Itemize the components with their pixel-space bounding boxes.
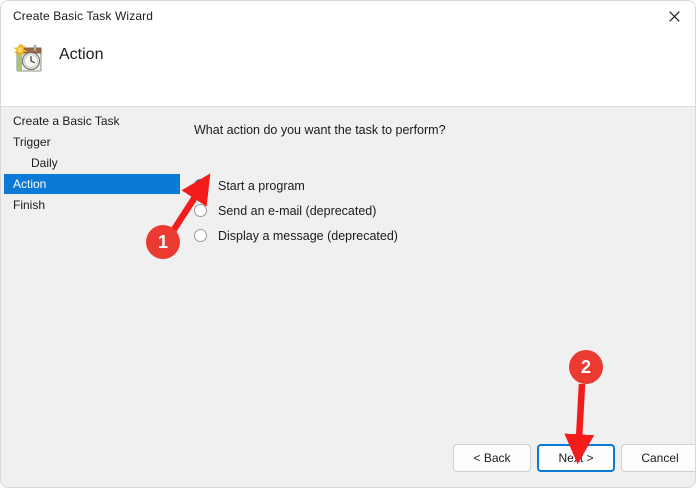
cancel-button[interactable]: Cancel <box>621 444 696 472</box>
create-basic-task-wizard-window: Create Basic Task Wizard <box>0 0 696 488</box>
sidebar-item-finish[interactable]: Finish <box>4 195 180 215</box>
window-title: Create Basic Task Wizard <box>13 9 153 23</box>
close-icon <box>669 11 680 22</box>
back-button[interactable]: < Back <box>453 444 531 472</box>
sidebar-item-create-a-basic-task[interactable]: Create a Basic Task <box>4 111 180 131</box>
wizard-step-nav: Create a Basic Task Trigger Daily Action… <box>1 107 183 216</box>
wizard-header: Action <box>1 33 696 107</box>
action-question-label: What action do you want the task to perf… <box>194 123 446 137</box>
sidebar-item-daily[interactable]: Daily <box>4 153 180 173</box>
radio-start-a-program[interactable]: Start a program <box>194 173 634 198</box>
wizard-footer: < Back Next > Cancel <box>1 430 696 488</box>
radio-button-icon <box>194 204 207 217</box>
radio-display-a-message[interactable]: Display a message (deprecated) <box>194 223 634 248</box>
wizard-body: Create a Basic Task Trigger Daily Action… <box>1 107 696 488</box>
sidebar-item-trigger[interactable]: Trigger <box>4 132 180 152</box>
next-button[interactable]: Next > <box>537 444 615 472</box>
title-bar: Create Basic Task Wizard <box>1 1 696 33</box>
radio-label: Start a program <box>218 179 305 193</box>
sidebar-item-action[interactable]: Action <box>4 174 180 194</box>
page-title: Action <box>59 46 103 64</box>
task-scheduler-calendar-clock-icon <box>9 39 49 79</box>
radio-button-icon <box>194 229 207 242</box>
action-radio-group: Start a program Send an e-mail (deprecat… <box>194 173 634 248</box>
radio-label: Display a message (deprecated) <box>218 229 398 243</box>
close-button[interactable] <box>651 1 696 32</box>
radio-button-icon <box>194 179 207 192</box>
radio-label: Send an e-mail (deprecated) <box>218 204 376 218</box>
radio-send-an-email[interactable]: Send an e-mail (deprecated) <box>194 198 634 223</box>
